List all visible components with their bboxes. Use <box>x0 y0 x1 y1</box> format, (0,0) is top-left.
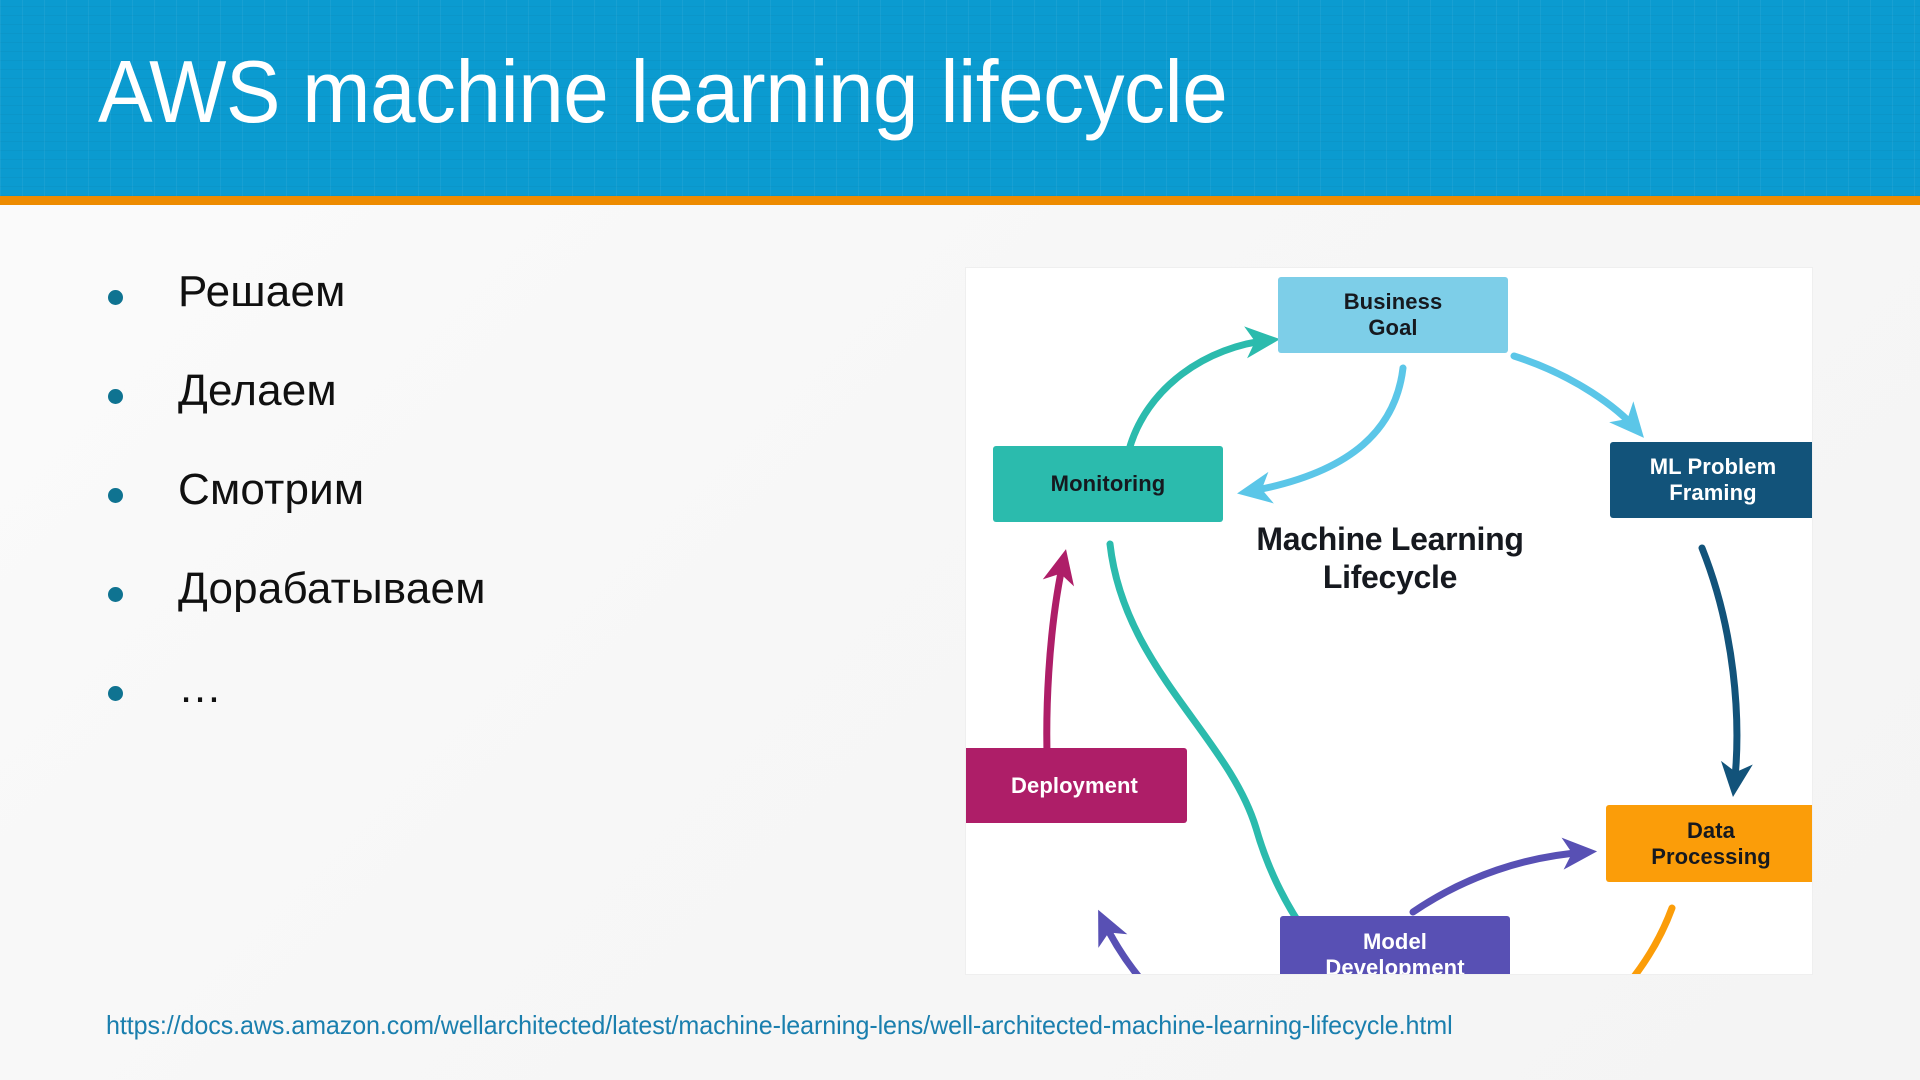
list-item: Смотрим <box>108 466 908 565</box>
diagram-center-title-line1: Machine Learning <box>1180 520 1600 558</box>
node-business-goal[interactable]: Business Goal <box>1278 277 1508 353</box>
node-deployment-line1: Deployment <box>1011 773 1138 799</box>
node-monitoring-line1: Monitoring <box>1051 471 1166 497</box>
slide-header-banner: AWS machine learning lifecycle <box>0 0 1920 205</box>
ml-lifecycle-diagram: Machine Learning Lifecycle Business Goal… <box>965 267 1813 975</box>
diagram-center-title-line2: Lifecycle <box>1180 558 1600 596</box>
node-monitoring[interactable]: Monitoring <box>993 446 1223 522</box>
node-business-goal-line1: Business <box>1344 289 1443 315</box>
source-url-link[interactable]: https://docs.aws.amazon.com/wellarchitec… <box>106 1010 1453 1041</box>
bullet-label: Делаем <box>178 367 337 415</box>
arrow-data-processing-to-model-development <box>1546 908 1672 975</box>
node-business-goal-line2: Goal <box>1344 315 1443 341</box>
slide-canvas: AWS machine learning lifecycle Решаем Де… <box>0 0 1920 1080</box>
node-deployment[interactable]: Deployment <box>965 748 1187 823</box>
node-ml-problem-framing[interactable]: ML Problem Framing <box>1610 442 1813 518</box>
page-title: AWS machine learning lifecycle <box>98 46 1227 138</box>
bullet-dot-icon <box>108 686 123 701</box>
node-ml-problem-framing-line2: Framing <box>1650 480 1777 506</box>
list-item: … <box>108 664 908 763</box>
bullet-label: Смотрим <box>178 466 364 514</box>
node-ml-problem-framing-line1: ML Problem <box>1650 454 1777 480</box>
node-model-development[interactable]: Model Development <box>1280 916 1510 975</box>
arrow-business-goal-to-monitoring <box>1246 368 1403 492</box>
list-item: Решаем <box>108 268 908 367</box>
node-model-development-line1: Model <box>1325 929 1464 955</box>
arrow-model-development-to-data-processing <box>1413 852 1588 912</box>
node-data-processing-line1: Data <box>1651 818 1771 844</box>
list-item: Дорабатываем <box>108 565 908 664</box>
arrow-business-goal-to-ml-problem-framing <box>1514 356 1638 431</box>
bullet-list: Решаем Делаем Смотрим Дорабатываем … <box>108 268 908 763</box>
diagram-center-title: Machine Learning Lifecycle <box>1180 520 1600 597</box>
bullet-label: Дорабатываем <box>178 565 486 613</box>
bullet-dot-icon <box>108 488 123 503</box>
bullet-dot-icon <box>108 290 123 305</box>
arrow-monitoring-to-business-goal <box>1129 340 1271 450</box>
arrow-model-development-to-deployment <box>1102 918 1278 975</box>
node-model-development-line2: Development <box>1325 955 1464 976</box>
arrow-ml-problem-framing-to-data-processing <box>1702 548 1737 788</box>
node-data-processing-line2: Processing <box>1651 844 1771 870</box>
bullet-label: Решаем <box>178 268 346 316</box>
list-item: Делаем <box>108 367 908 466</box>
node-data-processing[interactable]: Data Processing <box>1606 805 1813 882</box>
bullet-dot-icon <box>108 587 123 602</box>
bullet-dot-icon <box>108 389 123 404</box>
bullet-label: … <box>178 664 222 712</box>
